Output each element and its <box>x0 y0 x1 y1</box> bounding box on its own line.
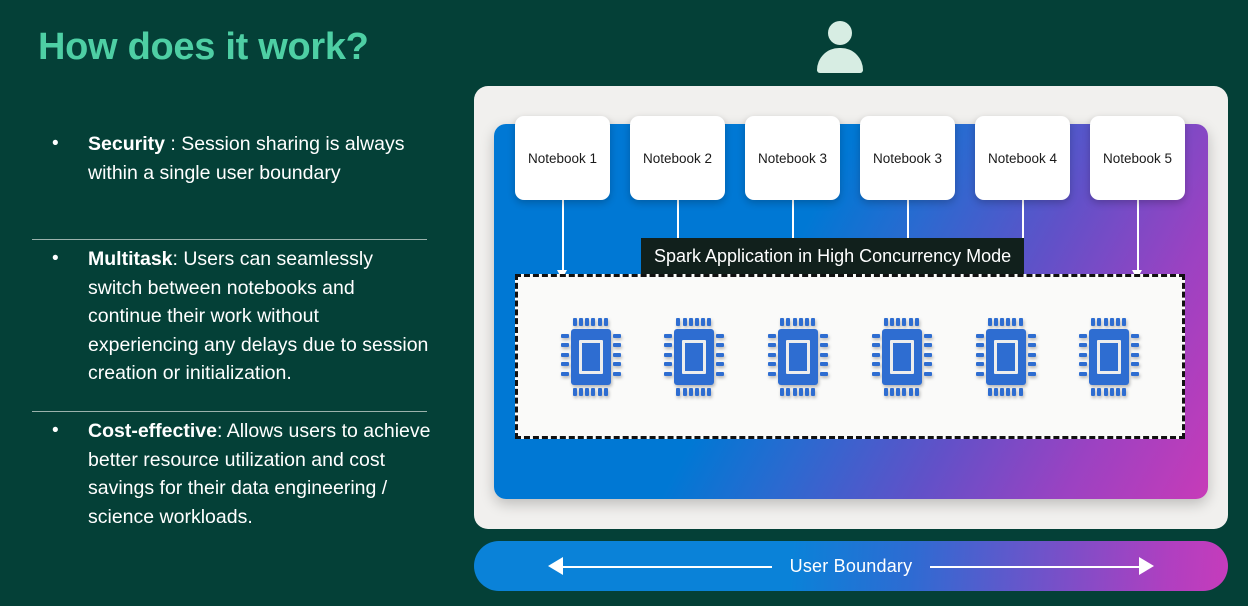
notebook-connector <box>1137 200 1139 274</box>
person-body <box>817 48 863 73</box>
executor-pool-container <box>515 274 1185 439</box>
left-text-column: How does it work? • Security : Session s… <box>0 0 460 606</box>
cpu-chip-icon <box>1078 318 1140 396</box>
bullet-item-cost-effective: • Cost-effective: Allows users to achiev… <box>52 417 432 531</box>
user-boundary-bar: User Boundary <box>474 541 1228 591</box>
notebook-card[interactable]: Notebook 5 <box>1090 116 1185 200</box>
cpu-chip-icon <box>560 318 622 396</box>
person-head <box>828 21 852 45</box>
bullet-item-security: • Security : Session sharing is always w… <box>52 130 432 187</box>
bullet-lead: Multitask <box>88 248 173 270</box>
cpu-chip-icon <box>663 318 725 396</box>
notebook-card[interactable]: Notebook 3 <box>860 116 955 200</box>
notebook-connector <box>907 200 909 242</box>
bullet-text: Multitask: Users can seamlessly switch b… <box>88 245 432 388</box>
bullet-lead: Cost-effective <box>88 420 217 442</box>
bullet-marker: • <box>52 417 74 446</box>
cpu-chip-icon <box>871 318 933 396</box>
cpu-chip-icon <box>767 318 829 396</box>
person-icon <box>817 21 863 73</box>
notebook-card[interactable]: Notebook 2 <box>630 116 725 200</box>
page-title: How does it work? <box>38 26 369 69</box>
cpu-chip-icon <box>975 318 1037 396</box>
bullet-item-multitask: • Multitask: Users can seamlessly switch… <box>52 245 432 388</box>
notebook-connector <box>562 200 564 274</box>
divider-1 <box>32 239 427 240</box>
user-boundary-label: User Boundary <box>474 541 1228 591</box>
notebook-connector <box>792 200 794 242</box>
divider-2 <box>32 411 427 412</box>
notebook-card[interactable]: Notebook 3 <box>745 116 840 200</box>
bullet-marker: • <box>52 245 74 274</box>
notebook-card[interactable]: Notebook 4 <box>975 116 1070 200</box>
bullet-text: Cost-effective: Allows users to achieve … <box>88 417 432 531</box>
notebook-connector <box>1022 200 1024 242</box>
executor-chip-row <box>518 277 1182 436</box>
bullet-text: Security : Session sharing is always wit… <box>88 130 432 187</box>
bullet-marker: • <box>52 130 74 159</box>
bullet-lead: Security <box>88 133 165 155</box>
notebook-connector <box>677 200 679 242</box>
notebook-card[interactable]: Notebook 1 <box>515 116 610 200</box>
slide-root: How does it work? • Security : Session s… <box>0 0 1248 606</box>
spark-banner: Spark Application in High Concurrency Mo… <box>641 238 1024 274</box>
